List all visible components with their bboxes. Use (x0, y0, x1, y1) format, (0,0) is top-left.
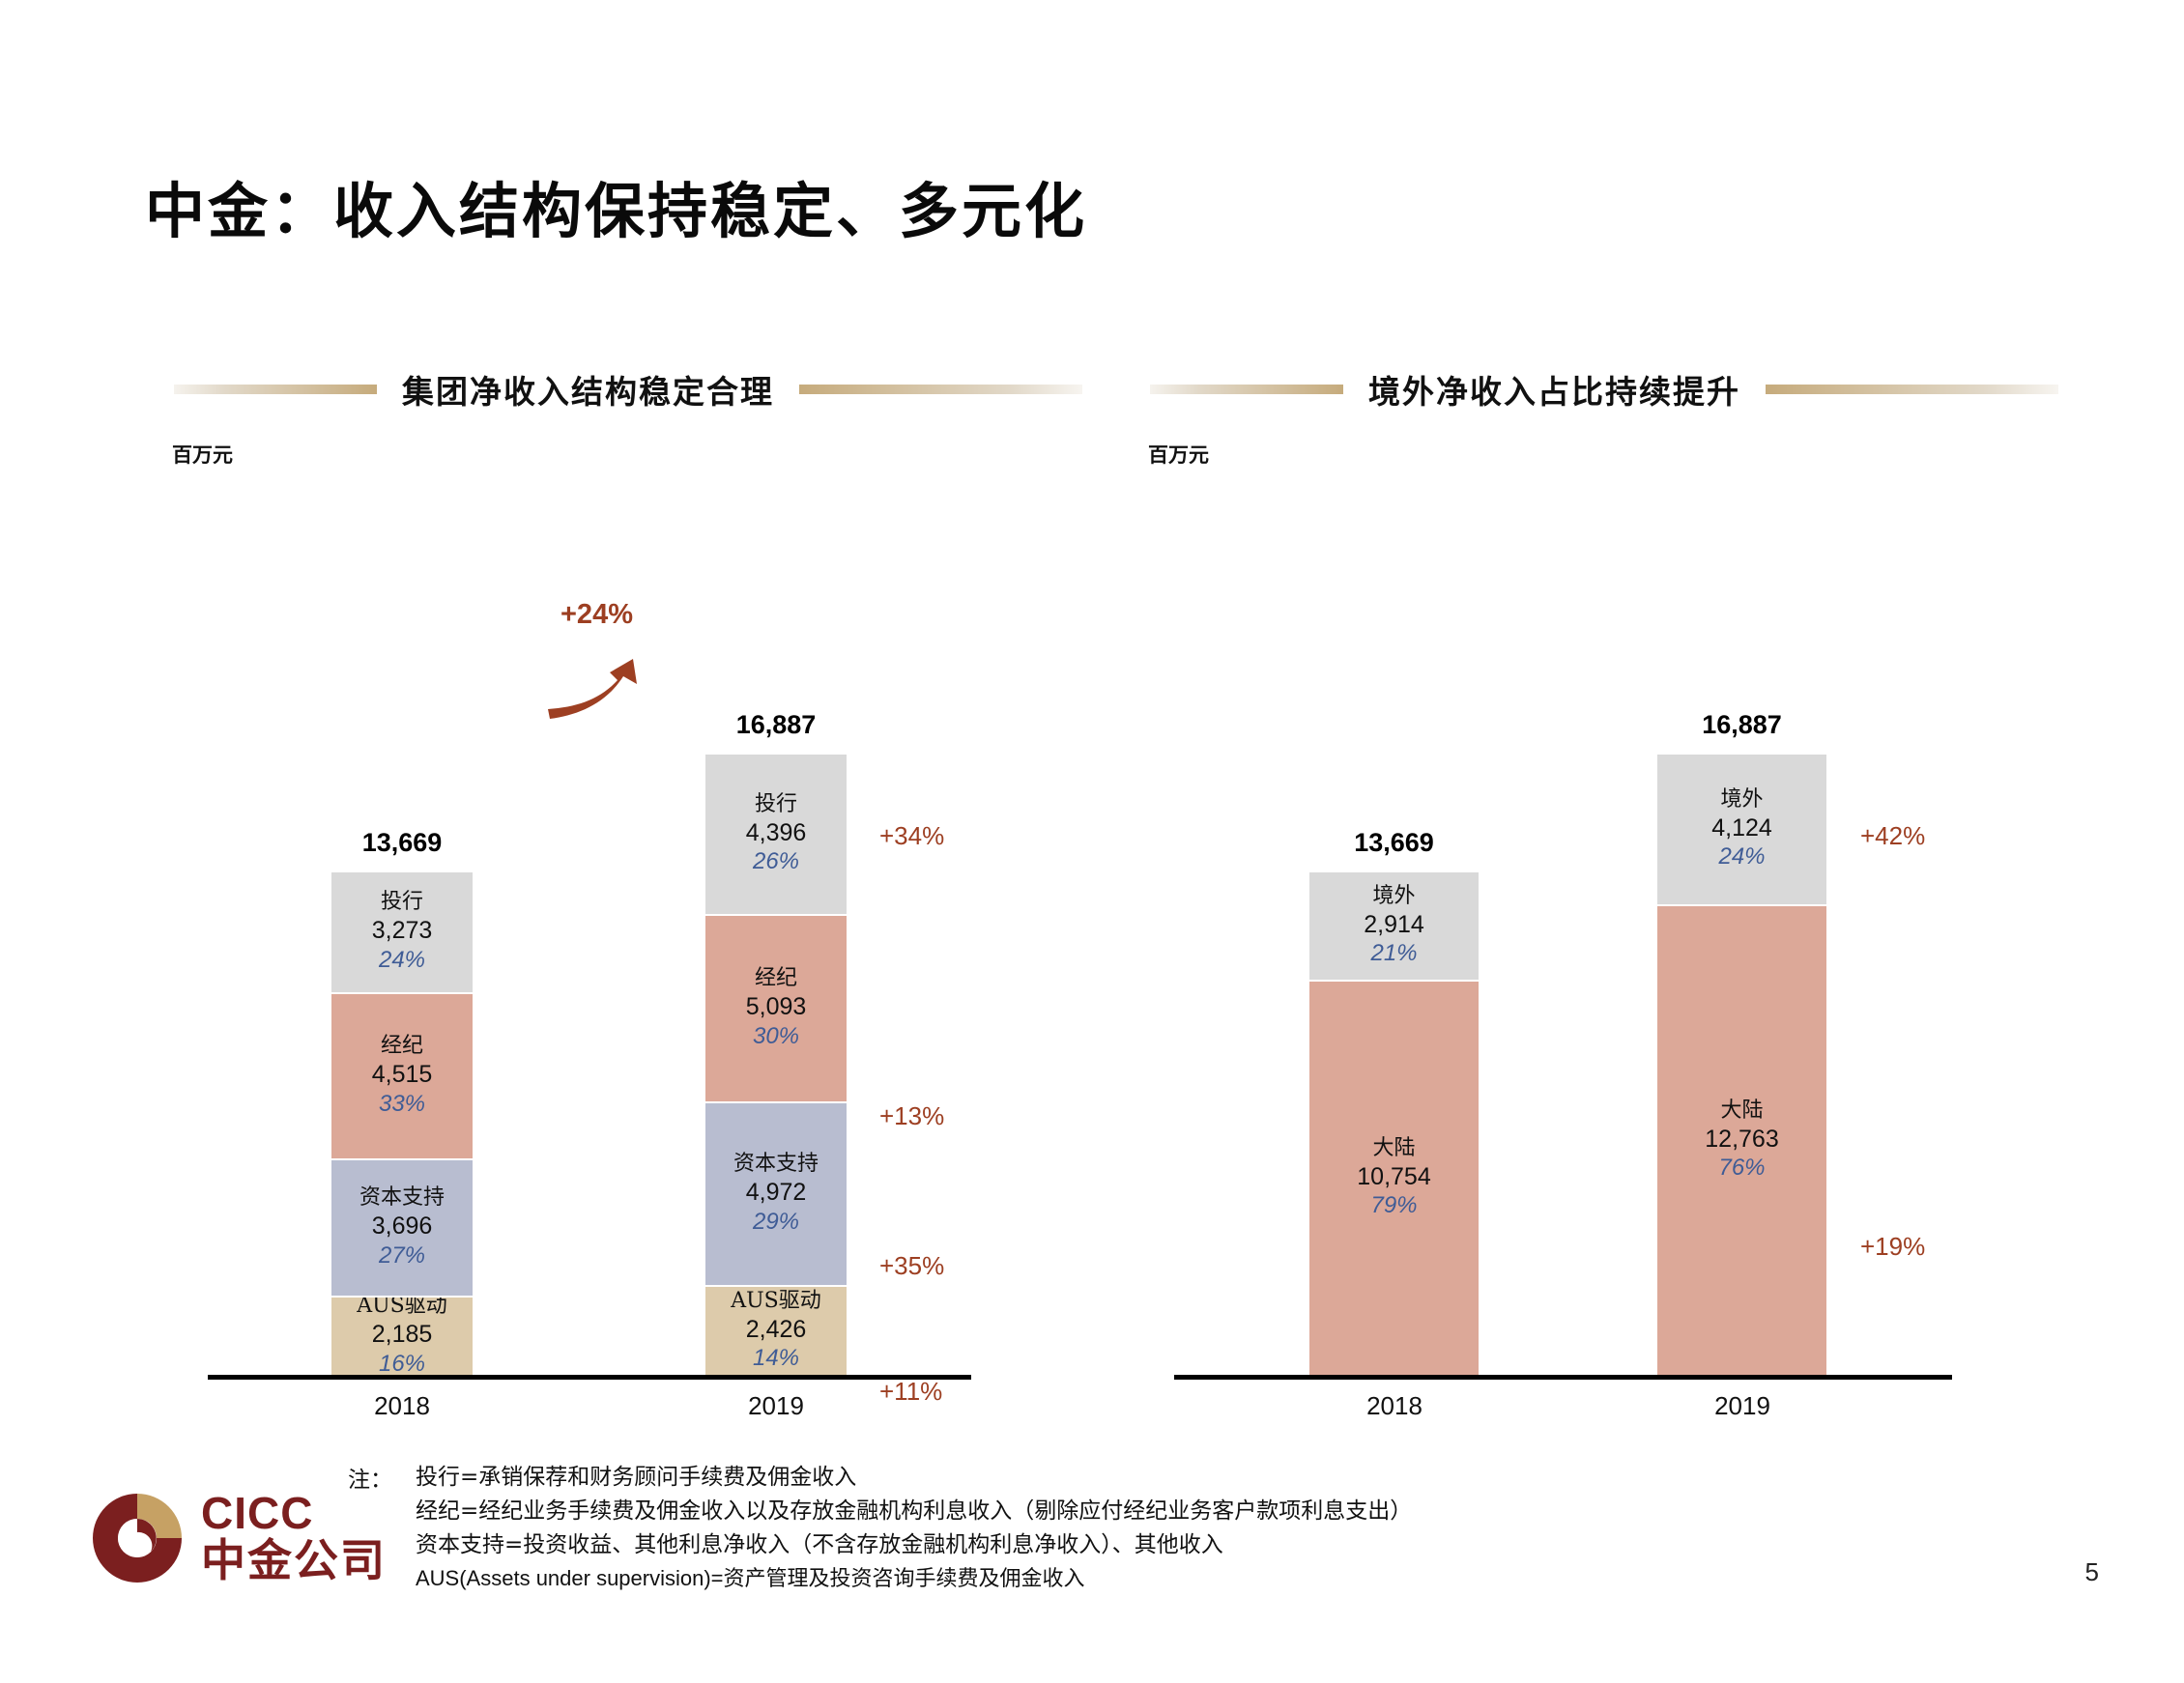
bar-2019-left: 16,887 投行 4,396 26% 经纪 5,093 30% 资本支持 4,… (705, 755, 847, 1375)
panel-title-right: 境外净收入占比持续提升 (1343, 366, 1766, 413)
page-number: 5 (2085, 1557, 2099, 1587)
bar-total-2019-left: 16,887 (705, 710, 847, 740)
segment-share: 21% (1370, 939, 1417, 968)
footnote-row-3: 资本支持=投资收益、其他利息净收入（不含存放金融机构利息净收入）、其他收入 (348, 1528, 1412, 1562)
segment-label: 投行 (381, 890, 423, 916)
segment-2018-investment-banking: 投行 3,273 24% (331, 872, 473, 992)
bar-2019-right: 16,887 境外 4,124 24% 大陆 12,763 76% (1657, 755, 1826, 1375)
segment-value: 4,515 (372, 1060, 433, 1090)
footnote-row-2: 经纪=经纪业务手续费及佣金收入以及存放金融机构利息收入（剔除应付经纪业务客户款项… (348, 1495, 1412, 1528)
segment-value: 3,696 (372, 1212, 433, 1241)
segment-label: 资本支持 (733, 1152, 819, 1178)
footnotes: 注： 投行=承销保荐和财务顾问手续费及佣金收入 经纪=经纪业务手续费及佣金收入以… (348, 1461, 1412, 1594)
segment-label: 投行 (755, 792, 797, 818)
segment-value: 12,763 (1705, 1125, 1778, 1155)
segment-value: 4,972 (746, 1178, 807, 1208)
panel-header-left: 集团净收入结构稳定合理 (174, 365, 1082, 414)
x-tick-2019-right: 2019 (1655, 1391, 1829, 1421)
growth-aus-driven: +11% (879, 1377, 942, 1407)
x-axis-line-right (1174, 1375, 1952, 1380)
segment-value: 2,185 (372, 1320, 433, 1350)
segment-2018-overseas: 境外 2,914 21% (1309, 872, 1479, 980)
footnote-tag: 注： (348, 1461, 416, 1494)
segment-share: 14% (753, 1344, 799, 1373)
header-rule-left (1150, 385, 1343, 394)
panel-header-right: 境外净收入占比持续提升 (1150, 365, 2058, 414)
footnote-line: AUS(Assets under supervision)=资产管理及投资咨询手… (416, 1562, 1085, 1594)
segment-label: 经纪 (381, 1034, 423, 1060)
unit-label-right: 百万元 (1148, 440, 1209, 469)
cicc-logo: CICC 中金公司 (89, 1490, 387, 1586)
x-tick-2018-right: 2018 (1308, 1391, 1481, 1421)
segment-2018-capital-support: 资本支持 3,696 27% (331, 1160, 473, 1296)
header-rule-right (1766, 385, 2058, 394)
segment-share: 29% (753, 1208, 799, 1237)
panel-title-left: 集团净收入结构稳定合理 (377, 366, 799, 413)
segment-2019-mainland: 大陆 12,763 76% (1657, 906, 1826, 1375)
segment-2019-investment-banking: 投行 4,396 26% (705, 755, 847, 914)
footnote-line: 经纪=经纪业务手续费及佣金收入以及存放金融机构利息收入（剔除应付经纪业务客户款项… (416, 1495, 1412, 1528)
cicc-logo-latin: CICC (201, 1491, 387, 1537)
bar-2018-left: 13,669 投行 3,273 24% 经纪 4,515 33% 资本支持 3,… (331, 872, 473, 1375)
footnote-line: 投行=承销保荐和财务顾问手续费及佣金收入 (416, 1461, 856, 1495)
growth-brokerage: +13% (879, 1101, 944, 1131)
segment-2019-capital-support: 资本支持 4,972 29% (705, 1103, 847, 1285)
footnote-row-4: AUS(Assets under supervision)=资产管理及投资咨询手… (348, 1562, 1412, 1594)
segment-label: 经纪 (755, 966, 797, 992)
chart-overseas-share: 13,669 境外 2,914 21% 大陆 10,754 79% 2018 1… (1150, 483, 1962, 1411)
slide-canvas: 中金：收入结构保持稳定、多元化 集团净收入结构稳定合理 百万元 13,669 投… (0, 0, 2184, 1683)
segment-share: 79% (1370, 1191, 1417, 1220)
bar-total-2018-right: 13,669 (1309, 828, 1479, 858)
header-rule-right (799, 385, 1082, 394)
bar-total-2018-left: 13,669 (331, 828, 473, 858)
segment-share: 24% (379, 946, 425, 975)
growth-capital-support: +35% (879, 1251, 944, 1281)
segment-2018-aus-driven: AUS驱动 2,185 16% (331, 1298, 473, 1375)
segment-share: 24% (1718, 842, 1765, 871)
segment-value: 2,914 (1364, 910, 1424, 940)
growth-investment-banking: +34% (879, 821, 944, 851)
segment-2018-mainland: 大陆 10,754 79% (1309, 982, 1479, 1375)
x-tick-2019-left: 2019 (689, 1391, 863, 1421)
bar-2018-right: 13,669 境外 2,914 21% 大陆 10,754 79% (1309, 872, 1479, 1375)
segment-2019-overseas: 境外 4,124 24% (1657, 755, 1826, 904)
cicc-logo-wordmark: CICC 中金公司 (201, 1491, 387, 1585)
segment-share: 27% (379, 1241, 425, 1270)
segment-label: 大陆 (1372, 1136, 1415, 1162)
growth-overseas: +42% (1860, 821, 1925, 851)
segment-label: AUS驱动 (731, 1289, 821, 1315)
segment-2019-aus-driven: AUS驱动 2,426 14% (705, 1287, 847, 1375)
growth-mainland: +19% (1860, 1232, 1925, 1262)
segment-label: 境外 (1720, 787, 1763, 813)
unit-label-left: 百万元 (172, 440, 233, 469)
segment-label: 境外 (1372, 884, 1415, 910)
bar-total-2019-right: 16,887 (1657, 710, 1826, 740)
growth-arrow-icon (546, 655, 652, 732)
overall-growth-label: +24% (560, 599, 633, 631)
segment-value: 3,273 (372, 916, 433, 946)
segment-share: 26% (753, 847, 799, 876)
cicc-logo-mark-icon (89, 1490, 186, 1586)
segment-value: 5,093 (746, 992, 807, 1022)
cicc-logo-chinese: 中金公司 (201, 1537, 387, 1585)
segment-value: 4,396 (746, 818, 807, 848)
segment-share: 33% (379, 1090, 425, 1119)
segment-value: 10,754 (1357, 1162, 1430, 1192)
segment-share: 16% (379, 1350, 425, 1375)
segment-value: 2,426 (746, 1315, 807, 1345)
x-tick-2018-left: 2018 (315, 1391, 489, 1421)
footnote-row-1: 注： 投行=承销保荐和财务顾问手续费及佣金收入 (348, 1461, 1412, 1495)
footnote-line: 资本支持=投资收益、其他利息净收入（不含存放金融机构利息净收入）、其他收入 (416, 1528, 1223, 1562)
segment-2019-brokerage: 经纪 5,093 30% (705, 916, 847, 1101)
page-title: 中金：收入结构保持稳定、多元化 (145, 162, 1087, 249)
segment-label: 大陆 (1720, 1098, 1763, 1125)
segment-label: 资本支持 (359, 1185, 445, 1212)
segment-2018-brokerage: 经纪 4,515 33% (331, 994, 473, 1158)
segment-label: AUS驱动 (357, 1298, 447, 1320)
chart-group-net-revenue: 13,669 投行 3,273 24% 经纪 4,515 33% 资本支持 3,… (174, 483, 986, 1411)
segment-value: 4,124 (1711, 813, 1772, 843)
segment-share: 30% (753, 1022, 799, 1051)
segment-share: 76% (1718, 1154, 1765, 1183)
x-axis-line-left (208, 1375, 971, 1380)
header-rule-left (174, 385, 377, 394)
